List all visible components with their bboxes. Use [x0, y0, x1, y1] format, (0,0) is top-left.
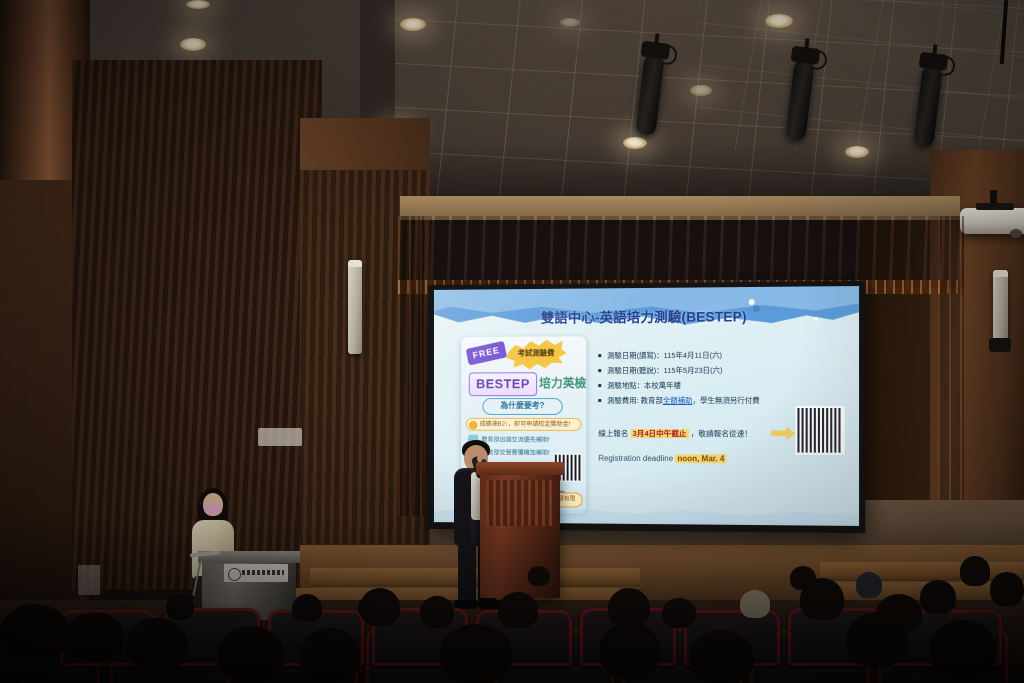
audience-head	[856, 572, 882, 598]
projector-mount-plate	[976, 203, 1014, 210]
audience-head	[528, 566, 550, 586]
fee-prefix: 測驗費用: 教育部	[607, 396, 663, 405]
speaker-cap	[993, 270, 1008, 277]
ceiling-tile-grid-far	[700, 0, 1024, 150]
presenter-leg	[458, 544, 476, 604]
poster-burst-badge: 考試測驗費	[504, 336, 568, 374]
ceiling-downlight	[186, 0, 210, 9]
audience-head-front	[300, 628, 360, 683]
smoke-detector-icon	[570, 50, 584, 57]
fee-highlight: 全額補助	[663, 396, 693, 405]
podium-panel-grooves	[486, 480, 554, 526]
ceiling-downlight	[690, 85, 712, 96]
arrow-right-icon	[771, 426, 795, 440]
stage-valance-curtain	[398, 216, 964, 288]
qr-pattern-icon	[797, 408, 842, 453]
slide-bullet-list: 測驗日期(讀寫)：115年4月11日(六) 測驗日期(聽說)：115年5月23日…	[598, 347, 848, 408]
audience-head	[662, 598, 696, 628]
curtain-left-edge	[398, 216, 424, 516]
fee-suffix: ，學生無須另行付費	[692, 396, 759, 405]
slide-title: 雙語中心-英語培力測驗(BESTEP)	[434, 304, 859, 327]
wall-sign-left	[258, 428, 302, 446]
audience-head	[960, 556, 990, 586]
audience-head	[420, 596, 454, 628]
plaque-text	[242, 570, 284, 575]
audience-head-front	[930, 620, 996, 678]
audience-head-front	[66, 612, 124, 660]
poster-free-tag: FREE	[466, 341, 508, 366]
smoke-detector-icon	[512, 70, 527, 77]
poster-banner-text: 成績達B2↑，即可申請校定獎助金!	[480, 421, 571, 428]
audience-head-front	[690, 630, 754, 683]
ceiling-downlight	[765, 14, 793, 28]
speaker-bracket-right	[989, 338, 1011, 352]
ceiling-downlight	[560, 18, 580, 27]
slide-qr-code	[795, 406, 844, 455]
wall-panel-left	[78, 565, 100, 595]
smoke-detector-icon	[840, 62, 853, 68]
poster-banner: 成績達B2↑，即可申請校定獎助金!	[466, 418, 582, 431]
deadline-highlight: noon, Mar. 4	[675, 454, 726, 463]
presenter-jacket-left	[454, 470, 471, 544]
auditorium-photo: 雙語中心-英語培力測驗(BESTEP) FREE 考試測驗費 BESTEP 培力…	[0, 0, 1024, 683]
slide-signup-line: 線上報名 3月4日中午截止 ，敬請報名從速！	[598, 428, 752, 439]
audience-head	[166, 594, 194, 620]
poster-brand-cn: 培力英檢	[539, 374, 586, 391]
audience-head	[990, 572, 1024, 606]
wall-speaker-left	[348, 260, 362, 354]
audience-head	[358, 596, 382, 618]
poster-question: 為什麼要考?	[482, 398, 562, 415]
slide-bullet: 測驗日期(讀寫)：115年4月11日(六)	[598, 347, 848, 363]
coin-icon	[469, 421, 478, 430]
slide-deadline-line: Registration deadline noon, Mar. 4	[598, 454, 726, 464]
signup-prefix: 線上報名	[598, 429, 628, 438]
audience-head-front	[218, 626, 284, 683]
school-logo-icon	[228, 568, 241, 581]
ceiling-downlight	[180, 38, 206, 51]
ceiling-downlight	[400, 18, 426, 31]
ceiling-projector	[960, 208, 1024, 234]
curtain-right-edge	[938, 216, 964, 516]
lectern-plaque	[224, 564, 288, 582]
signup-highlight: 3月4日中午截止	[631, 429, 689, 438]
audience-head-front	[846, 612, 908, 666]
audience-head-front	[0, 604, 70, 660]
audience-head	[800, 578, 844, 620]
audience-head-hat	[740, 590, 770, 618]
audience-head	[920, 580, 956, 614]
audience-head-front	[126, 618, 188, 670]
poster-brand: BESTEP	[469, 372, 537, 396]
audience-head	[498, 592, 538, 628]
audience-head-front	[600, 622, 660, 678]
speaker-cap	[348, 260, 362, 267]
audience-head-front	[440, 624, 512, 683]
poster-burst-text: 考試測驗費	[506, 347, 567, 358]
signup-suffix: ，敬請報名從速！	[691, 429, 752, 438]
slide-bullet: 測驗日期(聽說)：115年5月23日(六)	[598, 362, 848, 378]
audience-head	[292, 594, 322, 622]
podium-top	[476, 462, 564, 475]
wall-speaker-right	[993, 270, 1008, 340]
slide-bullet: 測驗地點：本校萬年樓	[598, 378, 848, 394]
deadline-prefix: Registration deadline	[598, 454, 673, 463]
left-wall-lower	[0, 180, 80, 600]
face-mask-icon	[204, 504, 222, 514]
projector-lens-icon	[1010, 229, 1022, 238]
